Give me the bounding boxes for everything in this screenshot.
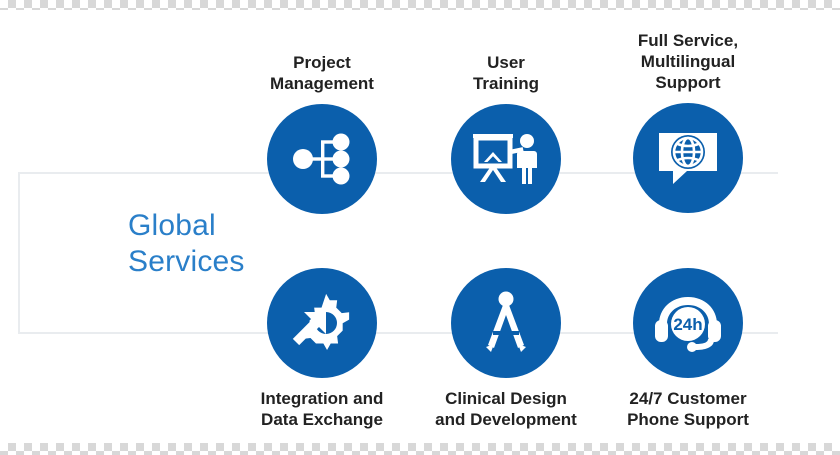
hierarchy-icon	[291, 133, 353, 185]
compass-divider-icon	[480, 291, 532, 355]
circle-integration[interactable]	[267, 268, 377, 378]
connector-frame-left	[18, 172, 20, 334]
gear-arrow-icon	[290, 292, 354, 354]
node-clinical-design[interactable]: Clinical Design and Development	[406, 268, 606, 430]
globe-speech-bubble-icon	[655, 129, 721, 187]
node-full-service[interactable]: Full Service, Multilingual Support	[588, 30, 788, 213]
transparency-checker-top	[0, 0, 840, 10]
node-project-management[interactable]: Project Management	[222, 52, 422, 214]
node-customer-phone[interactable]: 24h 24/7 Customer Phone Support	[588, 268, 788, 430]
circle-full-service[interactable]	[633, 103, 743, 213]
node-caption-full-service: Full Service, Multilingual Support	[588, 30, 788, 93]
node-caption-integration: Integration and Data Exchange	[222, 388, 422, 430]
node-user-training[interactable]: User Training	[406, 52, 606, 214]
caption-line: 24/7 Customer	[588, 388, 788, 409]
node-caption-customer-phone: 24/7 Customer Phone Support	[588, 388, 788, 430]
circle-user-training[interactable]	[451, 104, 561, 214]
caption-line: Project	[222, 52, 422, 73]
node-caption-project-management: Project Management	[222, 52, 422, 94]
circle-customer-phone[interactable]: 24h	[633, 268, 743, 378]
caption-line: and Development	[406, 409, 606, 430]
caption-line: Full Service,	[588, 30, 788, 51]
diagram-canvas: Global Services Project Management	[0, 0, 840, 455]
node-caption-user-training: User Training	[406, 52, 606, 94]
presentation-trainer-icon	[471, 130, 541, 188]
circle-project-management[interactable]	[267, 104, 377, 214]
caption-line: Support	[588, 72, 788, 93]
caption-line: Clinical Design	[406, 388, 606, 409]
caption-line: Training	[406, 73, 606, 94]
caption-line: Phone Support	[588, 409, 788, 430]
caption-line: Management	[222, 73, 422, 94]
caption-line: Integration and	[222, 388, 422, 409]
caption-line: Data Exchange	[222, 409, 422, 430]
caption-line: Multilingual	[588, 51, 788, 72]
caption-line: User	[406, 52, 606, 73]
headset-icon-text: 24h	[673, 315, 702, 334]
circle-clinical-design[interactable]	[451, 268, 561, 378]
transparency-checker-bottom	[0, 443, 840, 455]
node-integration[interactable]: Integration and Data Exchange	[222, 268, 422, 430]
headset-24h-icon: 24h	[651, 293, 725, 353]
node-caption-clinical-design: Clinical Design and Development	[406, 388, 606, 430]
